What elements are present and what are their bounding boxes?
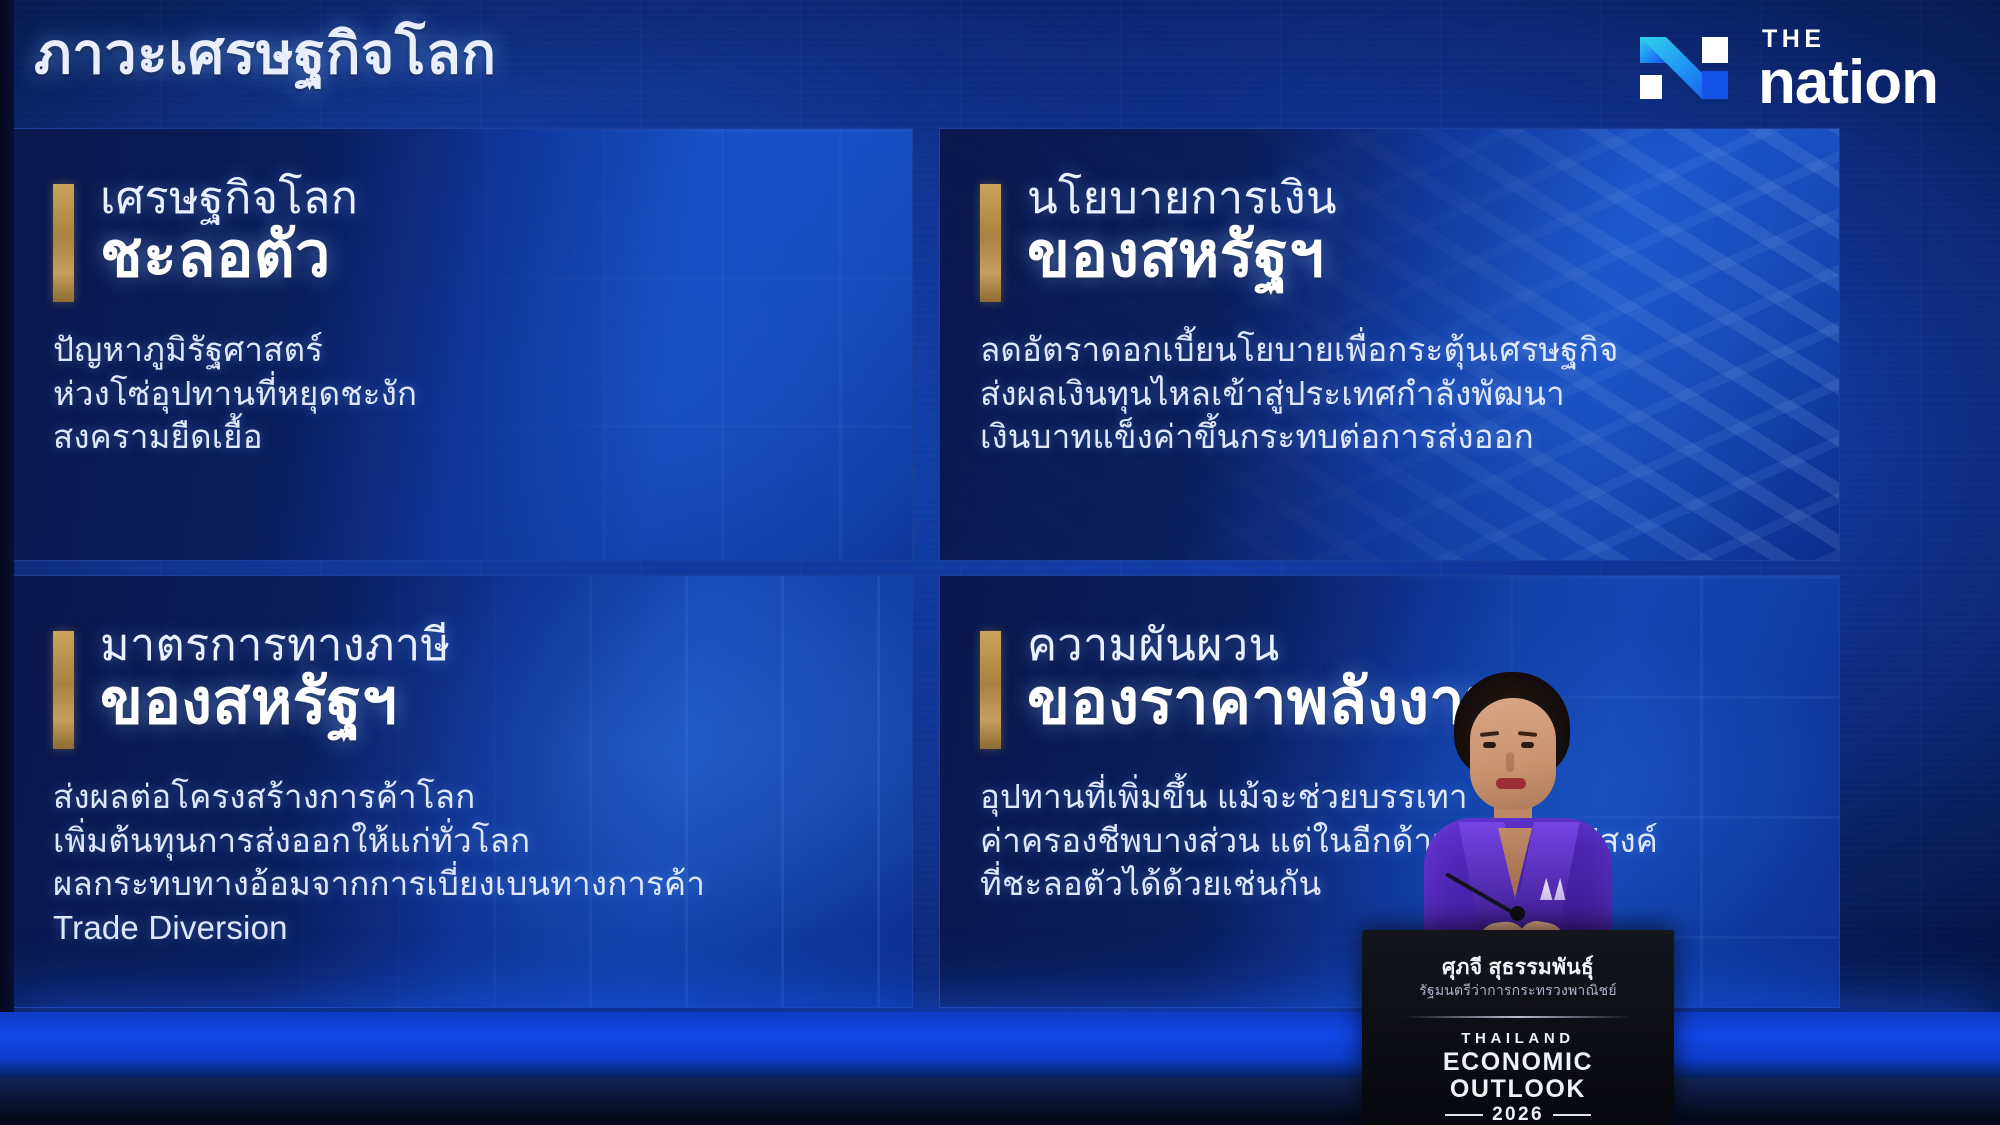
podium-divider <box>1404 1016 1632 1018</box>
accent-bar-icon <box>980 184 1001 302</box>
rule-right <box>1553 1114 1591 1116</box>
nation-wordmark: THE nation <box>1758 27 1938 111</box>
event-country: THAILAND <box>1362 1030 1674 1047</box>
list-item: ส่งผลเงินทุนไหลเข้าสู่ประเทศกำลังพัฒนา <box>980 372 1839 416</box>
panel-heading: ของสหรัฐฯ <box>1027 223 1337 287</box>
stage-light-band <box>0 1012 2000 1078</box>
list-item: ห่วงโซ่อุปทานที่หยุดชะงัก <box>53 372 912 416</box>
panel-subheading: เศรษฐกิจโลก <box>100 175 358 221</box>
panel-subheading: ความผันผวน <box>1027 622 1508 668</box>
nation-n-mark-icon <box>1636 25 1740 111</box>
presentation-stage: ภาวะเศรษฐกิจโลก THE nation <box>0 0 2000 1125</box>
list-item: ที่ชะลอตัวได้ด้วยเช่นกัน <box>980 862 1839 906</box>
panel-heading: ชะลอตัว <box>100 223 358 287</box>
list-item: ปัญหาภูมิรัฐศาสตร์ <box>53 328 912 372</box>
speaker-role: รัฐมนตรีว่าการกระทรวงพาณิชย์ <box>1362 980 1674 1002</box>
speaker-eye-left <box>1483 742 1496 748</box>
list-item: สงครามยืดเยื้อ <box>53 415 912 459</box>
panel-bullet-list: ลดอัตราดอกเบี้ยนโยบายเพื่อกระตุ้นเศรษฐกิ… <box>980 328 1839 459</box>
panel-global-economy: เศรษฐกิจโลก ชะลอตัว ปัญหาภูมิรัฐศาสตร์ ห… <box>12 128 913 561</box>
panel-us-tax-measures: มาตรการทางภาษี ของสหรัฐฯ ส่งผลต่อโครงสร้… <box>12 575 913 1008</box>
event-logo: THAILAND ECONOMIC OUTLOOK 2026 OUT ⚡ TRA… <box>1362 1030 1674 1125</box>
event-year: 2026 <box>1492 1104 1544 1125</box>
panel-subheading: มาตรการทางภาษี <box>100 622 450 668</box>
slide-title: ภาวะเศรษฐกิจโลก <box>34 22 496 88</box>
podium: ศุภจี สุธรรมพันธุ์ รัฐมนตรีว่าการกระทรวง… <box>1362 930 1674 1125</box>
stage-floor <box>0 1078 2000 1125</box>
event-word-economic: ECONOMIC <box>1362 1049 1674 1076</box>
accent-bar-icon <box>53 631 74 749</box>
brand-name-text: nation <box>1758 54 1938 111</box>
panel-bullet-list: อุปทานที่เพิ่มขึ้น แม้จะช่วยบรรเทา ค่าคร… <box>980 775 1839 906</box>
panel-bullet-list: ส่งผลต่อโครงสร้างการค้าโลก เพิ่มต้นทุนกา… <box>53 775 912 949</box>
panel-us-monetary-policy: นโยบายการเงิน ของสหรัฐฯ ลดอัตราดอกเบี้ยน… <box>939 128 1840 561</box>
stage-left-edge <box>0 0 14 1012</box>
speaker-mouth <box>1496 778 1526 789</box>
list-item: อุปทานที่เพิ่มขึ้น แม้จะช่วยบรรเทา <box>980 775 1839 819</box>
event-year-row: 2026 <box>1362 1104 1674 1125</box>
list-item: Trade Diversion <box>53 906 912 950</box>
list-item: เงินบาทแข็งค่าขึ้นกระทบต่อการส่งออก <box>980 415 1839 459</box>
list-item: ลดอัตราดอกเบี้ยนโยบายเพื่อกระตุ้นเศรษฐกิ… <box>980 328 1839 372</box>
panel-subheading: นโยบายการเงิน <box>1027 175 1337 221</box>
speaker-eye-right <box>1521 742 1534 748</box>
list-item: ค่าครองชีพบางส่วน แต่ในอีกด้านสะท้อนอุปส… <box>980 819 1839 863</box>
event-word-outlook: OUTLOOK <box>1362 1076 1674 1103</box>
list-item: ผลกระทบทางอ้อมจากการเบี่ยงเบนทางการค้า <box>53 862 912 906</box>
rule-left <box>1445 1114 1483 1116</box>
nation-logo: THE nation <box>1636 25 1938 111</box>
list-item: ส่งผลต่อโครงสร้างการค้าโลก <box>53 775 912 819</box>
panel-heading: ของสหรัฐฯ <box>100 670 450 734</box>
list-item: เพิ่มต้นทุนการส่งออกให้แก่ทั่วโลก <box>53 819 912 863</box>
accent-bar-icon <box>980 631 1001 749</box>
accent-bar-icon <box>53 184 74 302</box>
panel-bullet-list: ปัญหาภูมิรัฐศาสตร์ ห่วงโซ่อุปทานที่หยุดช… <box>53 328 912 459</box>
microphone-head-icon <box>1510 906 1525 921</box>
speaker-nose <box>1506 752 1514 772</box>
